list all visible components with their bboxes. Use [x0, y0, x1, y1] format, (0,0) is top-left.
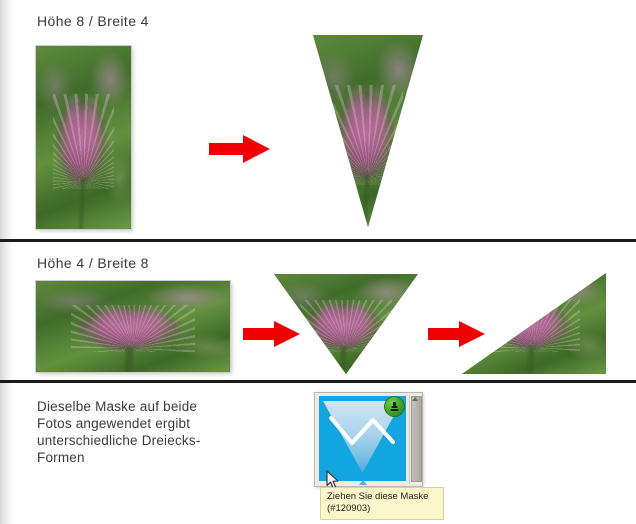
- section-divider-1: [0, 239, 636, 242]
- section-label-landscape: Höhe 4 / Breite 8: [37, 255, 149, 271]
- red-arrow-right-2: [243, 320, 301, 348]
- mask-thumbnail-panel[interactable]: [314, 392, 423, 487]
- caption-text: Dieselbe Maske auf beide Fotos angewende…: [37, 398, 267, 466]
- mask-tooltip: Ziehen Sie diese Maske (#120903): [320, 487, 444, 520]
- masked-photo-narrow-triangle: [313, 35, 423, 227]
- mask-thumbnail-tile[interactable]: [319, 396, 406, 481]
- left-edge-shading: [0, 0, 13, 524]
- stamp-badge-icon: [385, 397, 404, 416]
- photo-image: [36, 281, 230, 372]
- masked-photo-right-triangle: [462, 273, 606, 374]
- source-photo-landscape: [36, 281, 230, 372]
- scroll-up-arrow-icon[interactable]: [412, 397, 418, 401]
- red-arrow-right-1: [209, 134, 271, 164]
- photo-stem-detail: [125, 346, 134, 372]
- mask-v-stroke-icon: [329, 416, 395, 446]
- mask-collapse-caret-icon[interactable]: [359, 480, 367, 485]
- masked-photo-wide-triangle: [274, 274, 418, 374]
- slide-canvas: Höhe 8 / Breite 4 Höhe 4 / Breite 8: [0, 0, 636, 524]
- scrollbar-thumb[interactable]: [411, 396, 422, 482]
- section-divider-2: [0, 380, 636, 383]
- source-photo-portrait: [36, 46, 131, 229]
- photo-image: [462, 273, 606, 374]
- red-arrow-right-3: [428, 320, 486, 348]
- photo-image: [274, 274, 418, 374]
- mask-panel-scrollbar[interactable]: [409, 395, 421, 484]
- section-label-portrait: Höhe 8 / Breite 4: [37, 13, 149, 29]
